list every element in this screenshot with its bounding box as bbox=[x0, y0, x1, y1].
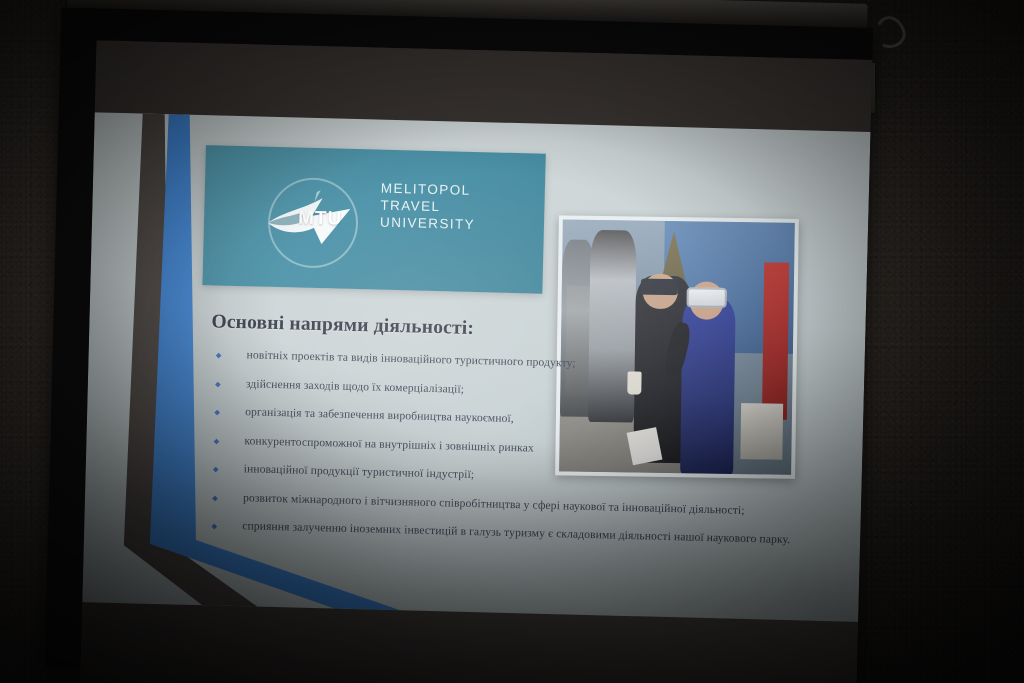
room-photograph: MTU MELITOPOL TRAVEL UNIVERSITY bbox=[0, 0, 1024, 683]
room-vignette bbox=[0, 0, 1024, 683]
